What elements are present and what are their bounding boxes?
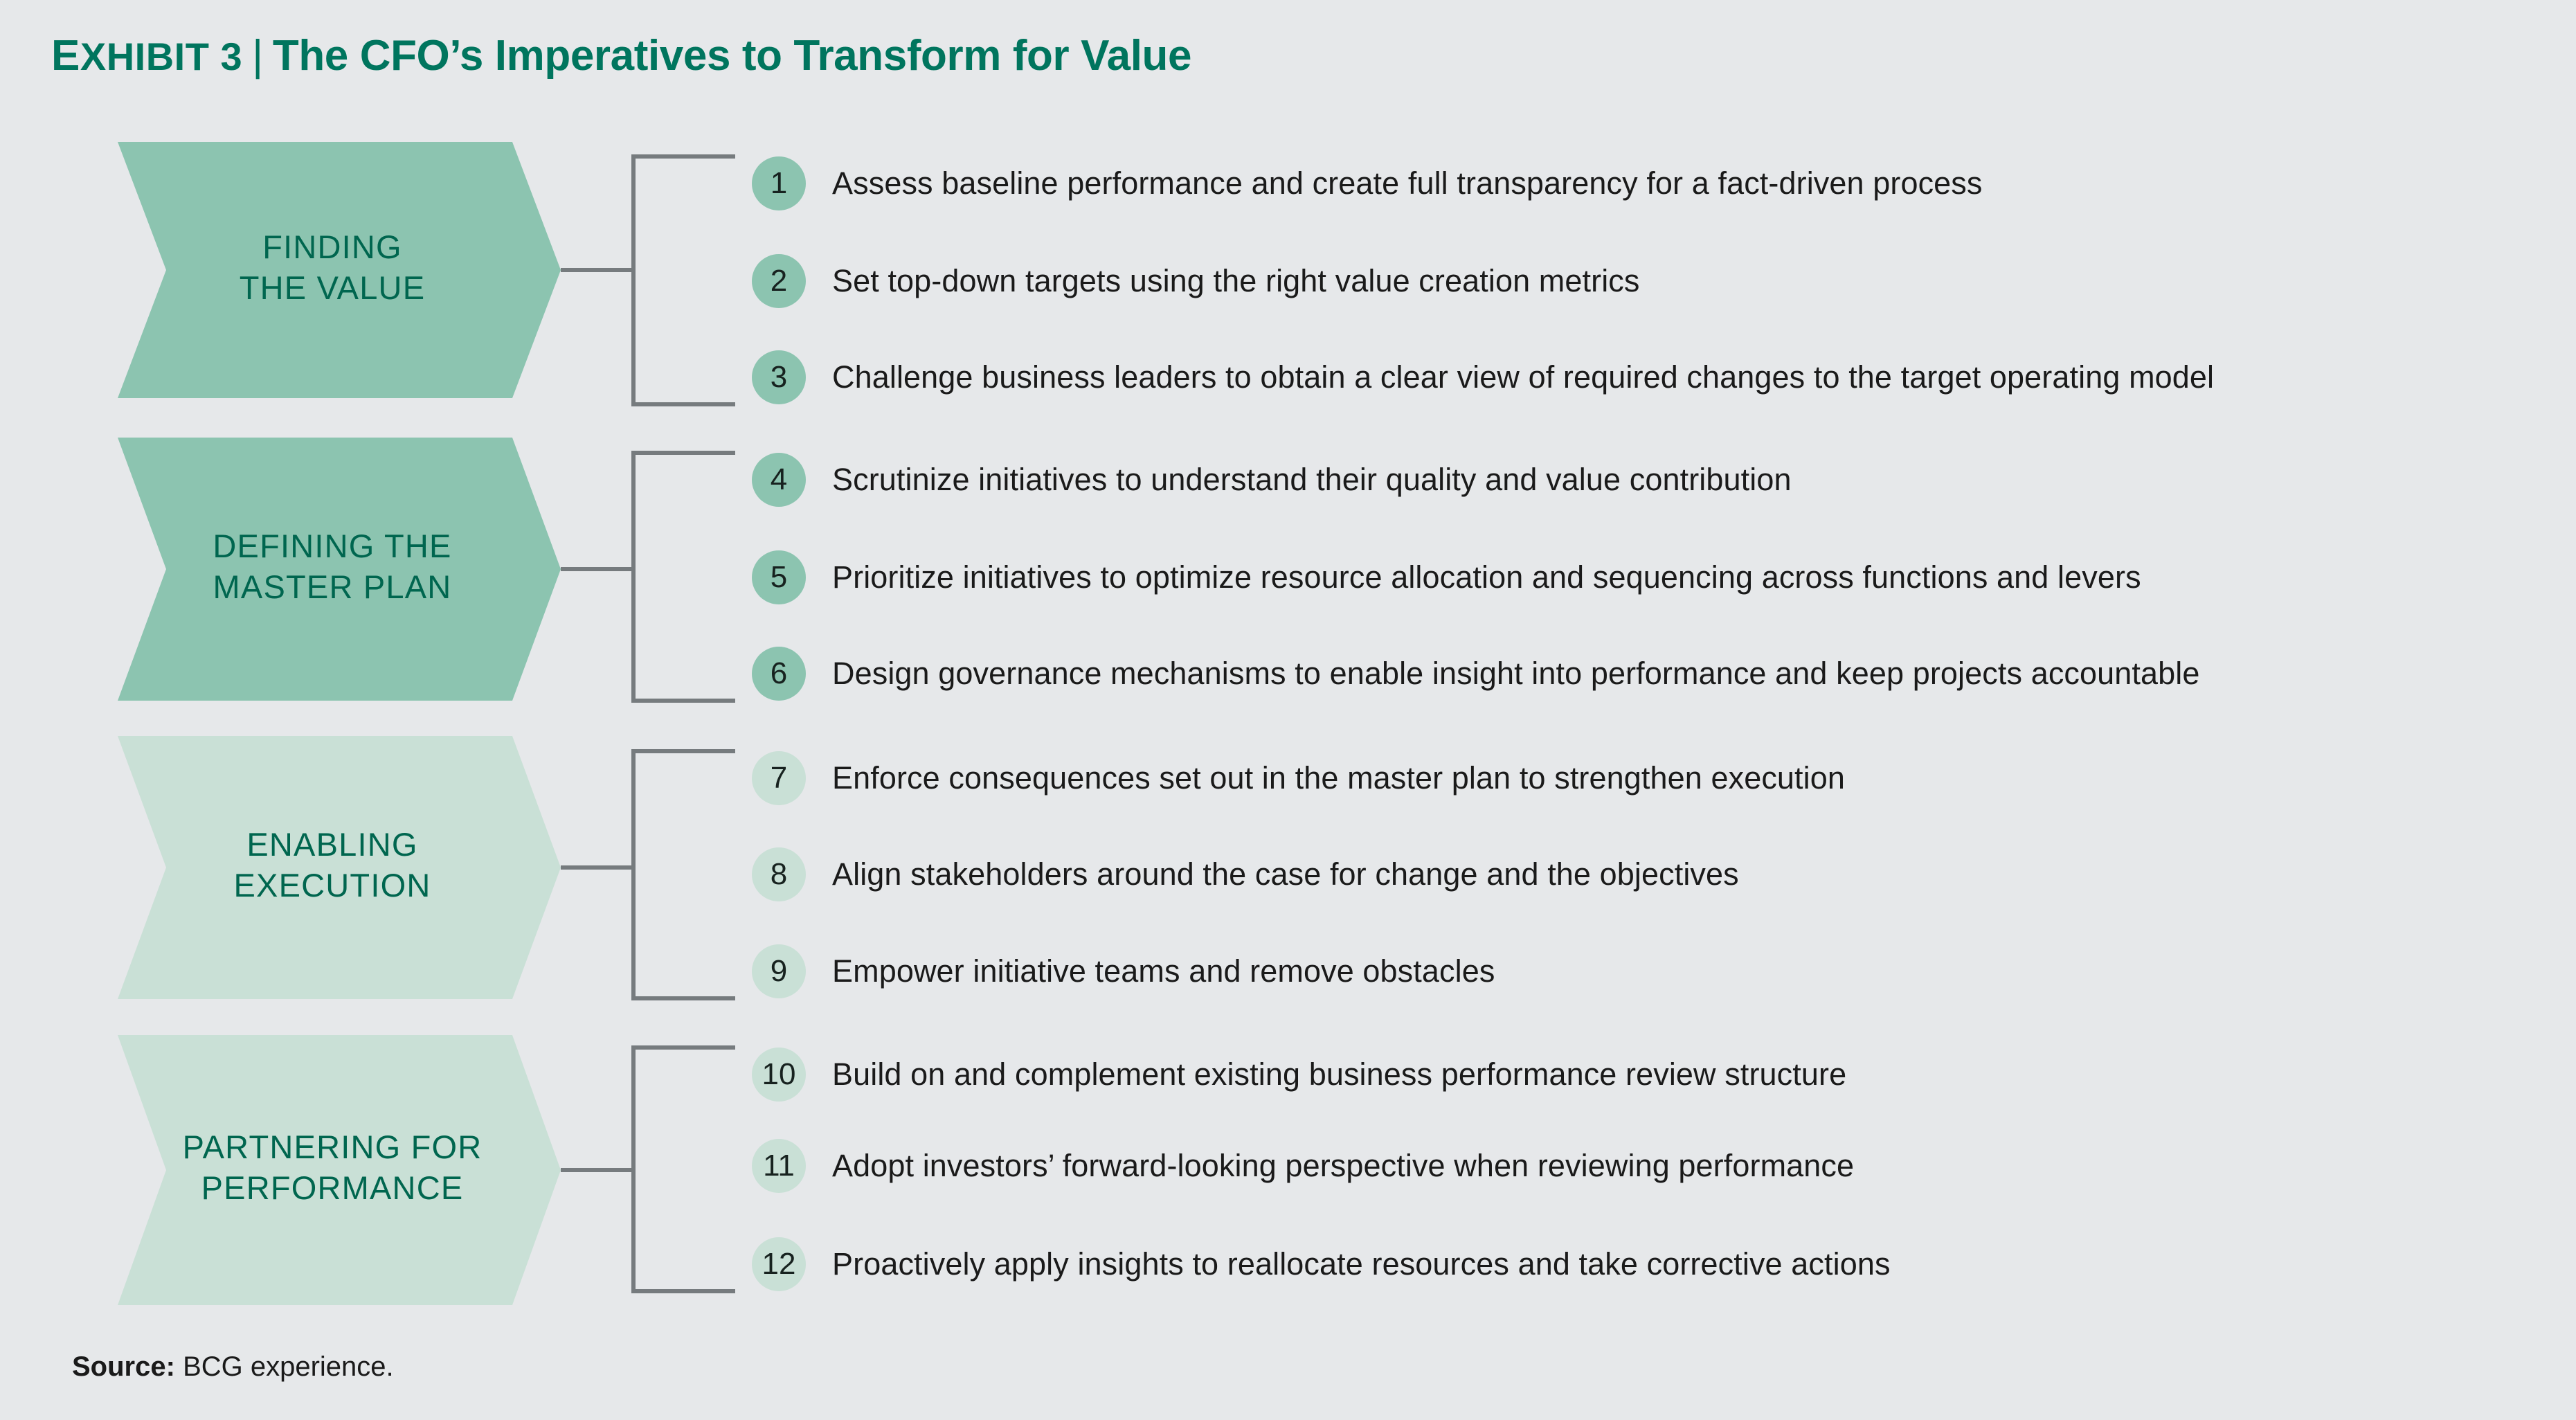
- imperative-number-badge: 3: [752, 350, 806, 404]
- imperative-text: Prioritize initiatives to optimize resou…: [832, 559, 2141, 595]
- imperative-number-badge: 7: [752, 751, 806, 805]
- imperative-text: Design governance mechanisms to enable i…: [832, 656, 2199, 692]
- chevron-defining-the-master-plan[interactable]: [118, 438, 561, 701]
- imperative-item[interactable]: 12Proactively apply insights to realloca…: [752, 1237, 1891, 1291]
- imperative-text: Proactively apply insights to reallocate…: [832, 1246, 1891, 1282]
- imperative-item[interactable]: 4Scrutinize initiatives to understand th…: [752, 453, 1792, 507]
- imperative-number-badge: 10: [752, 1048, 806, 1102]
- imperative-number-badge: 9: [752, 944, 806, 998]
- imperative-text: Empower initiative teams and remove obst…: [832, 953, 1495, 989]
- imperative-item[interactable]: 1Assess baseline performance and create …: [752, 156, 1983, 210]
- imperative-text: Set top-down targets using the right val…: [832, 263, 1640, 299]
- imperative-item[interactable]: 8Align stakeholders around the case for …: [752, 847, 1739, 901]
- imperative-text: Build on and complement existing busines…: [832, 1057, 1846, 1093]
- chevron-enabling-execution[interactable]: [118, 736, 561, 999]
- imperative-text: Enforce consequences set out in the mast…: [832, 760, 1845, 796]
- imperatives-diagram: FINDINGTHE VALUE1Assess baseline perform…: [0, 0, 2576, 1420]
- imperative-number-badge: 11: [752, 1139, 806, 1193]
- bracket-connector-enabling-execution: [561, 749, 735, 1000]
- imperative-item[interactable]: 11Adopt investors’ forward-looking persp…: [752, 1139, 1854, 1193]
- source-text: BCG experience.: [183, 1351, 394, 1382]
- imperative-number-badge: 1: [752, 156, 806, 210]
- imperative-item[interactable]: 9Empower initiative teams and remove obs…: [752, 944, 1495, 998]
- imperative-text: Adopt investors’ forward-looking perspec…: [832, 1148, 1854, 1184]
- source-label: Source:: [72, 1351, 175, 1382]
- imperative-number-badge: 6: [752, 647, 806, 701]
- imperative-item[interactable]: 5Prioritize initiatives to optimize reso…: [752, 550, 2141, 604]
- imperative-text: Assess baseline performance and create f…: [832, 165, 1983, 201]
- imperative-number-badge: 5: [752, 550, 806, 604]
- chevron-finding-the-value[interactable]: [118, 142, 561, 398]
- chevron-partnering-for-performance[interactable]: [118, 1035, 561, 1305]
- imperative-text: Scrutinize initiatives to understand the…: [832, 462, 1792, 498]
- imperative-number-badge: 8: [752, 847, 806, 901]
- source-note: Source: BCG experience.: [72, 1351, 394, 1383]
- imperative-item[interactable]: 6Design governance mechanisms to enable …: [752, 647, 2199, 701]
- imperative-number-badge: 12: [752, 1237, 806, 1291]
- bracket-connector-defining-the-master-plan: [561, 451, 735, 703]
- imperative-item[interactable]: 3Challenge business leaders to obtain a …: [752, 350, 2214, 404]
- imperative-number-badge: 4: [752, 453, 806, 507]
- imperative-item[interactable]: 7Enforce consequences set out in the mas…: [752, 751, 1845, 805]
- bracket-connector-partnering-for-performance: [561, 1045, 735, 1293]
- bracket-connector-finding-the-value: [561, 154, 735, 406]
- imperative-number-badge: 2: [752, 254, 806, 308]
- imperative-text: Challenge business leaders to obtain a c…: [832, 359, 2214, 395]
- imperative-text: Align stakeholders around the case for c…: [832, 856, 1739, 892]
- imperative-item[interactable]: 2Set top-down targets using the right va…: [752, 254, 1640, 308]
- imperative-item[interactable]: 10Build on and complement existing busin…: [752, 1048, 1846, 1102]
